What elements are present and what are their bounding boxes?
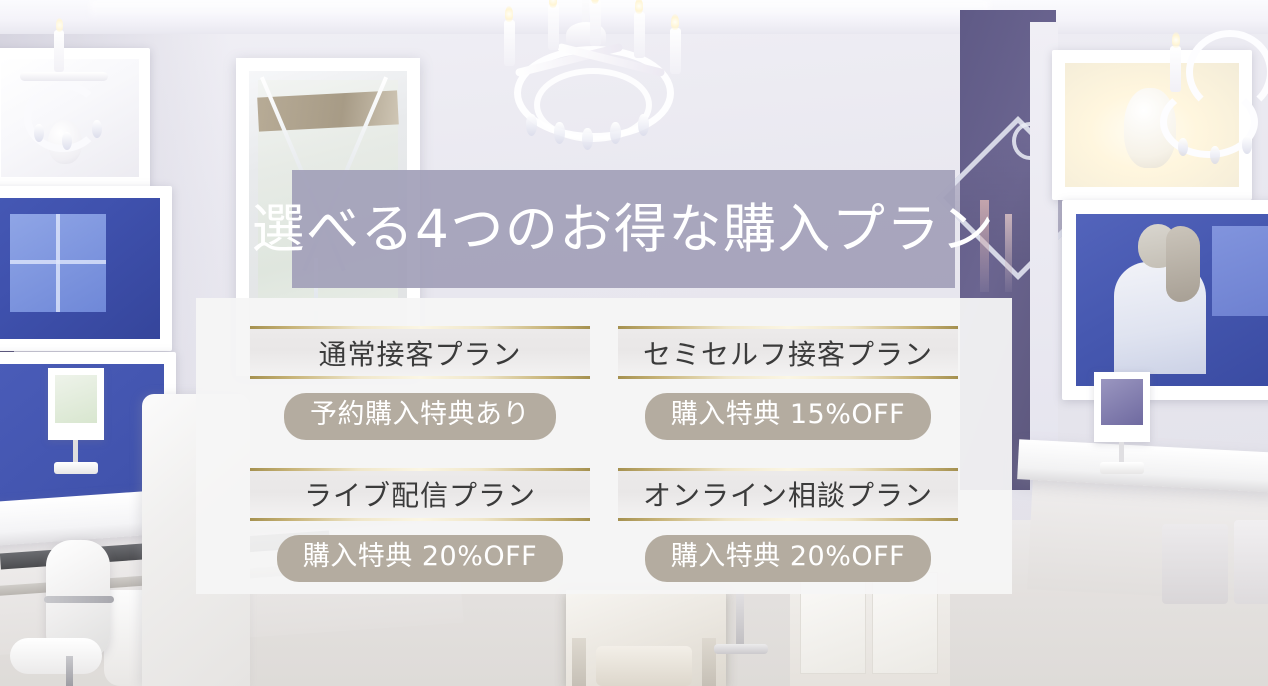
sconce-arm <box>20 72 108 81</box>
window-graphic <box>1212 226 1268 316</box>
wall-sconce-left <box>8 20 128 170</box>
plan-benefit-badge: 購入特典 15%OFF <box>645 393 931 440</box>
plan-benefit-badge: 購入特典 20%OFF <box>645 535 931 582</box>
mirror-glass <box>55 375 97 423</box>
candle-flame-icon <box>635 0 643 14</box>
table-mirror-left <box>48 368 104 440</box>
chandelier <box>430 0 750 164</box>
plan-card-semi-self[interactable]: セミセルフ接客プラン 購入特典 15%OFF <box>618 326 958 440</box>
framed-display-left-upper <box>0 186 172 351</box>
crystal-drop <box>582 128 593 150</box>
salon-chair-seat <box>10 638 102 674</box>
plan-benefit-badge: 予約購入特典あり <box>284 393 556 440</box>
candle-flame-icon <box>56 18 63 32</box>
framed-display-right <box>1062 200 1268 400</box>
crystal-drop <box>1178 138 1188 156</box>
plan-card-live-stream[interactable]: ライブ配信プラン 購入特典 20%OFF <box>250 468 590 582</box>
crystal-drop <box>610 122 621 144</box>
candle <box>548 4 559 50</box>
table-mirror-right <box>1094 372 1150 442</box>
candle-flame-icon <box>505 6 513 22</box>
crystal-drop <box>34 124 44 142</box>
page-title: 選べる4つのお得な購入プラン <box>252 203 996 256</box>
floor-stand-base <box>714 644 768 654</box>
storage-bin-right <box>1162 524 1228 604</box>
plan-header: 通常接客プラン <box>250 326 590 379</box>
plan-header: ライブ配信プラン <box>250 468 590 521</box>
plan-title: ライブ配信プラン <box>304 474 536 514</box>
floor-stand-pole <box>736 592 744 648</box>
chandelier-ring-inner <box>534 68 652 142</box>
plan-title: 通常接客プラン <box>318 333 521 373</box>
plans-panel: 通常接客プラン 予約購入特典あり セミセルフ接客プラン 購入特典 15%OFF … <box>196 298 1012 594</box>
plan-card-online-consult[interactable]: オンライン相談プラン 購入特典 20%OFF <box>618 468 958 582</box>
mirror-post <box>73 440 78 464</box>
crystal-drop <box>92 120 102 138</box>
plan-header: セミセルフ接客プラン <box>618 326 958 379</box>
candle-flame-icon <box>671 14 679 30</box>
candle <box>1170 46 1181 92</box>
banner-stage: 選べる4つのお得な購入プラン 通常接客プラン 予約購入特典あり セミセルフ接客プ… <box>0 0 1268 686</box>
crystal-drop <box>526 114 537 136</box>
crystal-drop <box>1242 136 1252 154</box>
window-mullion-horizontal <box>10 260 106 264</box>
salon-chair-leg <box>66 656 73 686</box>
crystal-drop <box>1210 146 1220 164</box>
plan-title: オンライン相談プラン <box>643 474 933 514</box>
candle <box>54 30 64 72</box>
candle <box>504 20 515 66</box>
wall-sconce-right <box>1150 20 1268 200</box>
plan-header: オンライン相談プラン <box>618 468 958 521</box>
person-hair <box>1166 226 1200 302</box>
candle <box>634 12 645 58</box>
plans-grid: 通常接客プラン 予約購入特典あり セミセルフ接客プラン 購入特典 15%OFF … <box>250 326 958 582</box>
salon-chair-arm <box>44 596 114 603</box>
crystal-drop <box>638 114 649 136</box>
crystal-drop <box>554 122 565 144</box>
plan-card-normal[interactable]: 通常接客プラン 予約購入特典あり <box>250 326 590 440</box>
plan-title: セミセルフ接客プラン <box>643 333 933 373</box>
storage-bin-right-2 <box>1234 520 1268 604</box>
accent-light-strip-2 <box>1005 214 1012 292</box>
bench-leg <box>572 638 586 686</box>
candle <box>590 0 601 46</box>
plan-benefit-badge: 購入特典 20%OFF <box>277 535 563 582</box>
banner-title-band: 選べる4つのお得な購入プラン <box>292 170 955 288</box>
mirror-base <box>54 462 98 474</box>
candle-flame-icon <box>1172 32 1180 48</box>
mirror-post <box>1119 442 1124 464</box>
stool-center <box>596 646 692 686</box>
candle <box>670 28 681 74</box>
mirror-base <box>1100 462 1144 474</box>
mirror-glass <box>1101 379 1143 425</box>
crystal-drop <box>62 132 72 150</box>
